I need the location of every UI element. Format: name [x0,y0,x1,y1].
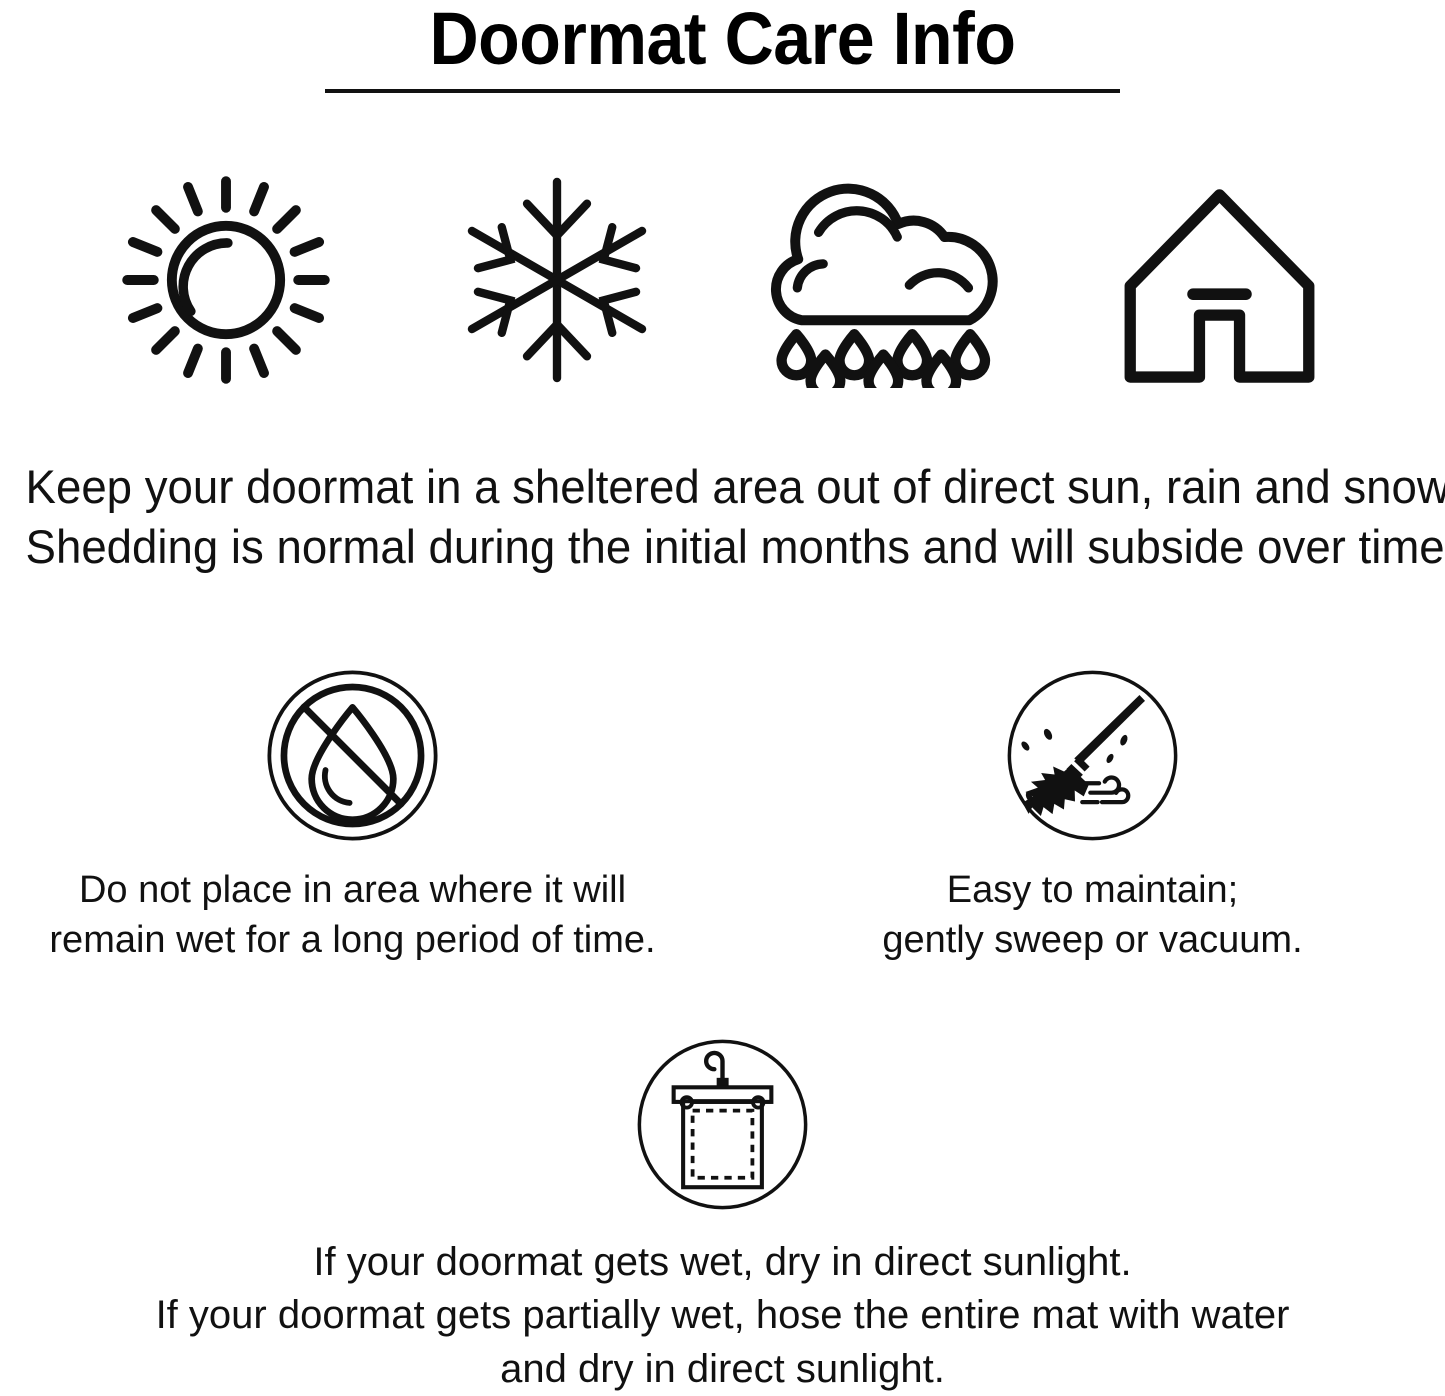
title-divider [325,89,1120,93]
dry-line-3: and dry in direct sunlight. [156,1343,1290,1396]
dry-line-2: If your doormat gets partially wet, hose… [156,1289,1290,1342]
dry-line-1: If your doormat gets wet, dry in direct … [156,1236,1290,1289]
intro-paragraph: Keep your doormat in a sheltered area ou… [0,457,1445,576]
care-item-no-water: Do not place in area where it will remai… [23,668,683,965]
hang-dry-icon [635,1037,810,1212]
weather-cell-snow [422,165,692,395]
house-icon [1112,173,1327,388]
care-sweep-line-2: gently sweep or vacuum. [882,916,1302,965]
care-instruction-row: Do not place in area where it will remai… [0,668,1445,965]
weather-icon-row [0,165,1445,395]
rain-cloud-icon [764,173,1012,388]
no-water-icon [265,668,440,843]
page-title: Doormat Care Info [58,2,1387,76]
intro-line-2: Shedding is normal during the initial mo… [26,517,1420,577]
weather-cell-sun [91,165,361,395]
page-header: Doormat Care Info [0,0,1445,93]
weather-cell-rain [753,165,1023,395]
care-item-sweep: Easy to maintain; gently sweep or vacuum… [763,668,1423,965]
care-no-water-line-2: remain wet for a long period of time. [49,916,655,965]
weather-cell-house [1084,165,1354,395]
broom-sweeping-icon [1005,668,1180,843]
care-caption-no-water: Do not place in area where it will remai… [49,866,655,965]
care-caption-hang-dry: If your doormat gets wet, dry in direct … [156,1236,1290,1396]
care-sweep-line-1: Easy to maintain; [882,866,1302,915]
intro-line-1: Keep your doormat in a sheltered area ou… [26,457,1420,517]
care-caption-sweep: Easy to maintain; gently sweep or vacuum… [882,866,1302,965]
care-item-hang-dry: If your doormat gets wet, dry in direct … [0,1037,1445,1396]
care-no-water-line-1: Do not place in area where it will [49,866,655,915]
snowflake-icon [451,171,663,389]
sun-icon [112,166,340,394]
